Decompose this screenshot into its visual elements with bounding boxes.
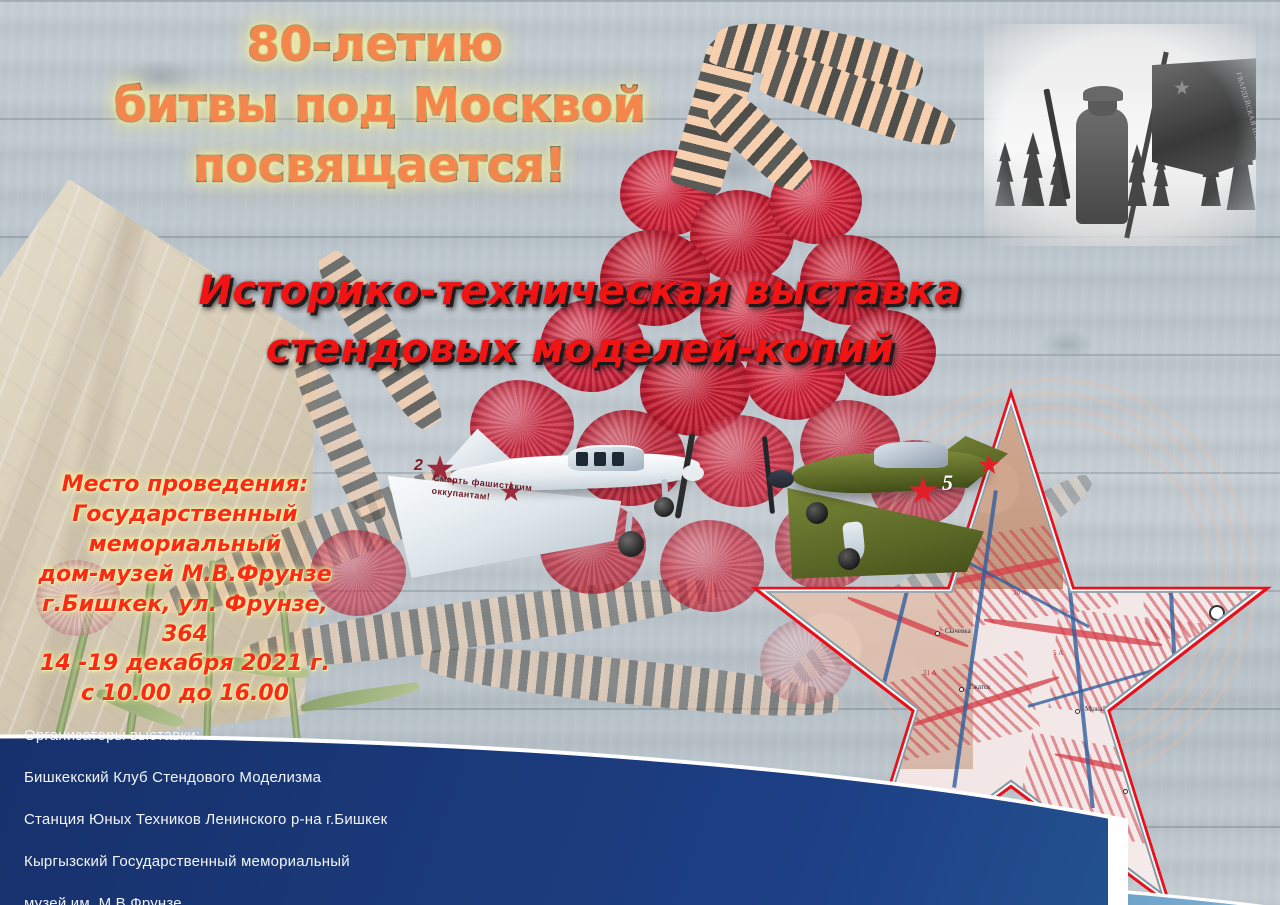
poster-headline: 80-летию битвы под Москвой посвящается! xyxy=(0,14,760,196)
green-fighter-model: 5 xyxy=(752,418,1042,598)
propeller-spinner xyxy=(768,470,794,488)
wwii-soldier-photo: ГВАРДЕЙСКАЯ ПАНФИЛОВСКАЯ ДИВИЗИЯ xyxy=(984,24,1256,246)
map-unit-label: 33 А xyxy=(1143,739,1157,747)
map-unit-label: 5 А xyxy=(1053,649,1063,657)
venue-name-2: мемориальный xyxy=(20,530,350,560)
organizer-item: Бишкекский Клуб Стендового Моделизма xyxy=(24,770,644,785)
venue-name-1: Государственный xyxy=(20,500,350,530)
venue-address: г.Бишкек, ул. Фрунзе, 364 xyxy=(20,590,350,650)
map-label: Калуга xyxy=(1203,823,1224,831)
event-dates: 14 -19 декабря 2021 г. xyxy=(20,649,350,679)
headline-line-1: 80-летию xyxy=(0,14,760,75)
subtitle-line-1: Историко-техническая выставка xyxy=(110,262,1050,320)
map-label: Гжатск xyxy=(969,683,990,691)
map-unit-label: 43 А xyxy=(1193,699,1207,707)
venue-name-3: дом-музей М.В.Фрунзе xyxy=(20,560,350,590)
headline-line-3: посвящается! xyxy=(0,135,760,196)
landing-gear-wheel xyxy=(806,502,828,524)
map-label: Сычевка xyxy=(945,627,971,635)
organizers-heading: Организаторы выставки: xyxy=(24,728,644,743)
helmet-icon xyxy=(1083,86,1123,101)
landing-gear-wheel xyxy=(654,497,674,517)
propeller-spinner xyxy=(682,465,704,481)
venue-info-block: Место проведения: Государственный мемори… xyxy=(20,470,350,709)
landing-gear-wheel xyxy=(838,548,860,570)
poster-subtitle: Историко-техническая выставка стендовых … xyxy=(110,262,1050,378)
plane-tail-number: 2 xyxy=(414,457,423,475)
event-hours: с 10.00 до 16.00 xyxy=(20,679,350,709)
map-label: Наро-Фоминск xyxy=(1163,665,1208,673)
venue-label: Место проведения: xyxy=(20,470,350,500)
plane-canopy xyxy=(874,442,948,468)
plane-canopy xyxy=(568,445,644,471)
landing-gear-wheel xyxy=(618,531,644,557)
map-label: Малоярославец xyxy=(1133,785,1179,793)
organizers-list: Организаторы выставки: Бишкекский Клуб С… xyxy=(24,728,644,905)
headline-line-2: битвы под Москвой xyxy=(0,75,760,136)
organizer-item: музей им. М.В.Фрунзе xyxy=(24,896,644,905)
map-unit-label: 31 А xyxy=(923,669,937,677)
poster-canvas: ГВАРДЕЙСКАЯ ПАНФИЛОВСКАЯ ДИВИЗИЯ xyxy=(0,0,1280,905)
subtitle-line-2: стендовых моделей-копий xyxy=(110,320,1050,378)
white-fighter-model: Смерть фашистским оккупантам! 2 xyxy=(390,415,730,615)
organizer-item: Кыргызский Государственный мемориальный xyxy=(24,854,644,869)
soldier-figure xyxy=(1076,108,1128,224)
organizer-item: Станция Юных Техников Ленинского р-на г.… xyxy=(24,812,644,827)
plane-tail-number: 5 xyxy=(942,470,953,496)
